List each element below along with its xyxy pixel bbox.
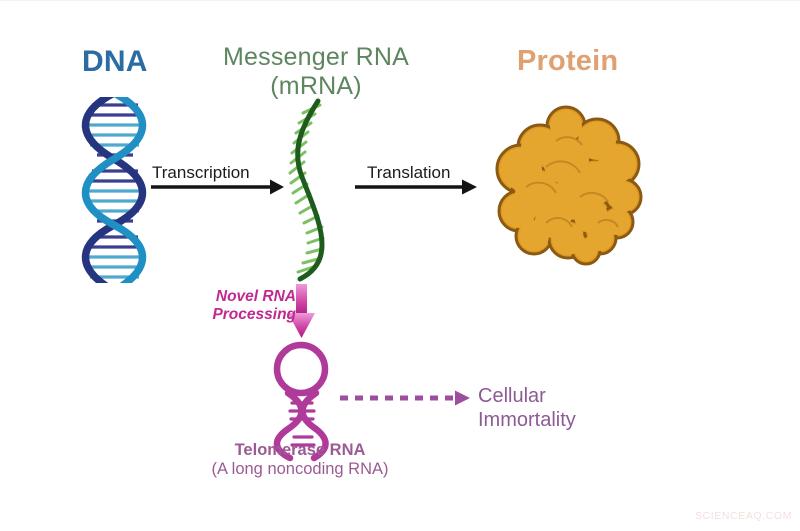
novel-label-line2: Processing	[212, 306, 296, 323]
telomerase-rna-label: Telomerase RNA	[165, 441, 435, 460]
mrna-title-line2: (mRNA)	[270, 72, 361, 100]
immortality-dashed-arrow-icon	[340, 391, 470, 406]
mrna-title: Messenger RNA (mRNA)	[216, 43, 416, 101]
protein-blob-icon	[497, 107, 641, 264]
translation-label: Translation	[367, 163, 450, 183]
novel-rna-processing-label: Novel RNA Processing	[181, 288, 296, 325]
mrna-strand-icon	[290, 101, 323, 279]
telomerase-rna-subtitle: (A long noncoding RNA)	[155, 460, 445, 479]
dna-title: DNA	[82, 45, 148, 79]
cellular-immortality-label: Cellular Immortality	[478, 384, 648, 432]
diagram-canvas: DNA Messenger RNA (mRNA) Protein Transcr…	[0, 0, 800, 530]
dna-helix-icon	[86, 93, 144, 291]
immortality-line2: Immortality	[478, 409, 576, 431]
transcription-label: Transcription	[152, 163, 250, 183]
immortality-line1: Cellular	[478, 385, 546, 407]
watermark: SCIENCEAQ.COM	[695, 510, 792, 522]
mrna-title-line1: Messenger RNA	[223, 43, 409, 71]
novel-label-line1: Novel RNA	[216, 288, 296, 305]
protein-title: Protein	[517, 45, 618, 78]
